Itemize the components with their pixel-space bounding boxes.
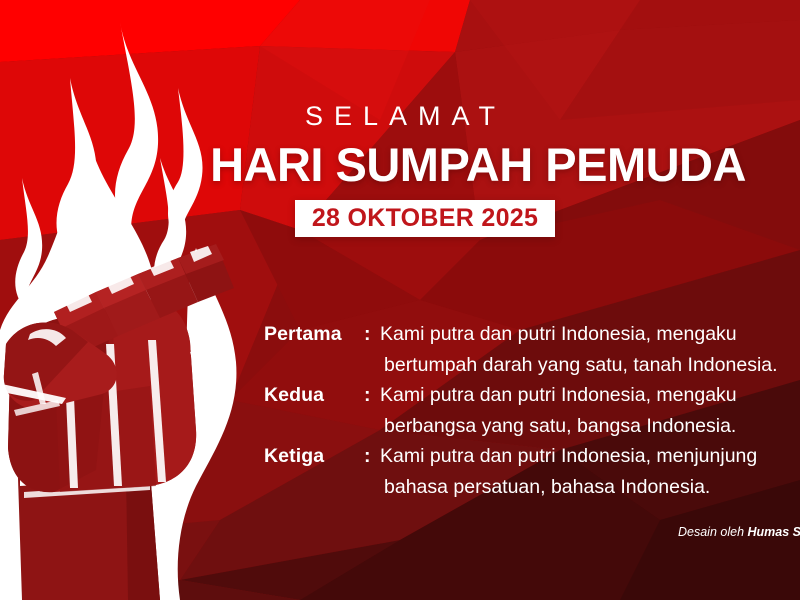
fist-and-flame-illustration: [0, 0, 300, 600]
poster-canvas: SELAMAT HARI SUMPAH PEMUDA 28 OKTOBER 20…: [0, 0, 800, 600]
